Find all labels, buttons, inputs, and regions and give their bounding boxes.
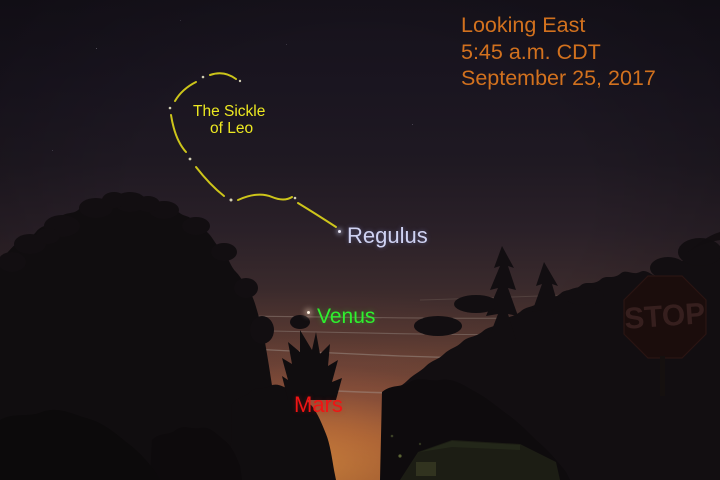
- night-sky-photo: STOP Looking East 5:45 a.m. CDT Septembe…: [0, 0, 720, 480]
- pine-cluster-center: [282, 330, 342, 400]
- label-sickle-of-leo: The Sickle of Leo: [193, 103, 265, 138]
- label-venus: Venus: [317, 305, 375, 329]
- stop-sign-post: [660, 356, 665, 396]
- label-mars: Mars: [294, 393, 343, 418]
- stop-sign-text: STOP: [623, 297, 706, 336]
- label-sickle-line2: of Leo: [193, 120, 265, 137]
- porch-light: [419, 443, 421, 445]
- label-regulus: Regulus: [347, 224, 428, 249]
- porch-light: [398, 454, 401, 457]
- header-caption: Looking East 5:45 a.m. CDT September 25,…: [461, 12, 656, 92]
- house-window: [416, 462, 436, 476]
- porch-light: [391, 435, 394, 438]
- header-line-date: September 25, 2017: [461, 65, 656, 92]
- header-line-looking-east: Looking East: [461, 12, 656, 39]
- label-sickle-line1: The Sickle: [193, 103, 265, 120]
- header-line-time: 5:45 a.m. CDT: [461, 39, 656, 66]
